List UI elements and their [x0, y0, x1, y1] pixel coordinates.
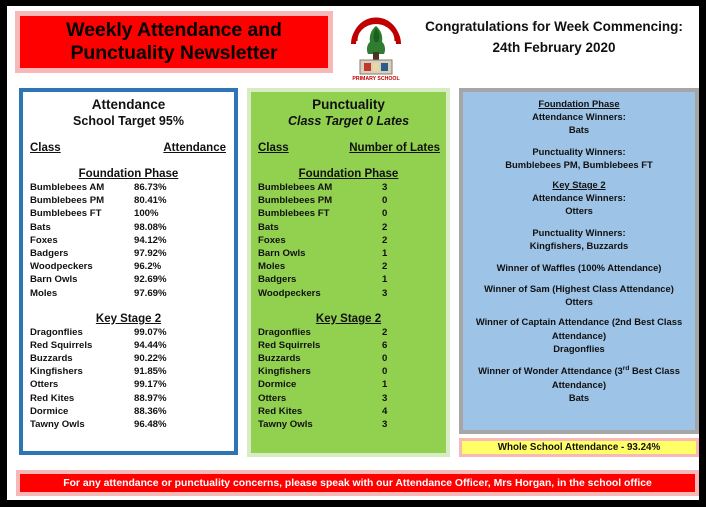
newsletter-title-banner: Weekly Attendance and Punctuality Newsle… [15, 11, 333, 73]
table-row: Dragonflies99.07% [30, 326, 226, 339]
award-sam-value: Otters [471, 295, 687, 308]
attendance-group-title-ks2: Key Stage 2 [23, 313, 234, 325]
class-value: 94.12% [134, 234, 194, 247]
footer-text: For any attendance or punctuality concer… [63, 478, 652, 489]
award-captain-label-line2: Attendance) [471, 329, 687, 343]
footer-banner: For any attendance or punctuality concer… [16, 470, 699, 496]
spacer [471, 275, 687, 282]
attendance-panel-heading: Attendance School Target 95% [23, 92, 234, 130]
table-row: Kingfishers91.85% [30, 365, 226, 378]
class-name: Kingfishers [258, 365, 354, 378]
attendance-col-value: Attendance [163, 142, 226, 154]
winners-fp-attendance-label: Attendance Winners: [471, 110, 687, 123]
class-name: Red Kites [30, 392, 134, 405]
punctuality-group-title-fp: Foundation Phase [251, 168, 446, 180]
class-name: Buzzards [258, 352, 354, 365]
class-value: 0 [354, 365, 428, 378]
attendance-panel: Attendance School Target 95% Class Atten… [19, 88, 238, 455]
class-value: 88.97% [134, 392, 194, 405]
punctuality-title: Punctuality [251, 96, 446, 113]
whole-school-attendance-banner: Whole School Attendance - 93.24% [459, 438, 699, 457]
class-name: Tawny Owls [30, 418, 134, 431]
title-line-2: Punctuality Newsletter [71, 42, 278, 65]
punctuality-col-value: Number of Lates [349, 142, 440, 154]
table-row: Otters99.17% [30, 378, 226, 391]
punctuality-panel-heading: Punctuality Class Target 0 Lates [251, 92, 446, 130]
whole-school-attendance-text: Whole School Attendance - 93.24% [498, 442, 660, 453]
class-name: Dragonflies [30, 326, 134, 339]
class-name: Badgers [258, 273, 354, 286]
spacer [471, 355, 687, 362]
award-wonder-value: Bats [471, 391, 687, 404]
congratulations-heading: Congratulations for Week Commencing: 24t… [411, 16, 697, 58]
class-name: Moles [30, 287, 134, 300]
table-row: Dragonflies2 [258, 326, 438, 339]
table-row: Tawny Owls96.48% [30, 418, 226, 431]
class-name: Otters [258, 392, 354, 405]
winners-ks2-punctuality-value: Kingfishers, Buzzards [471, 239, 687, 252]
punctuality-column-headers: Class Number of Lates [251, 142, 446, 154]
class-value: 1 [354, 273, 428, 286]
class-name: Foxes [258, 234, 354, 247]
table-row: Woodpeckers96.2% [30, 260, 226, 273]
class-value: 2 [354, 234, 428, 247]
table-row: Bumblebees PM0 [258, 194, 438, 207]
punctuality-rows-fp: Bumblebees AM3 Bumblebees PM0 Bumblebees… [251, 181, 446, 300]
award-wonder-label-line2: Attendance) [471, 378, 687, 392]
class-value: 92.69% [134, 273, 194, 286]
class-value: 88.36% [134, 405, 194, 418]
award-wonder-label-line1: Winner of Wonder Attendance (3rd Best Cl… [471, 362, 687, 378]
congrats-line-2: 24th February 2020 [411, 37, 697, 58]
table-row: Bumblebees PM80.41% [30, 194, 226, 207]
table-row: Badgers1 [258, 273, 438, 286]
award-waffles-label: Winner of Waffles (100% Attendance) [471, 261, 687, 275]
class-name: Red Squirrels [30, 339, 134, 352]
award-sam-label: Winner of Sam (Highest Class Attendance) [471, 282, 687, 296]
table-row: Bats98.08% [30, 221, 226, 234]
class-name: Kingfishers [30, 365, 134, 378]
winners-ks2-punctuality-label: Punctuality Winners: [471, 226, 687, 239]
table-row: Foxes2 [258, 234, 438, 247]
class-value: 1 [354, 378, 428, 391]
spacer [471, 308, 687, 315]
svg-text:PRIMARY SCHOOL: PRIMARY SCHOOL [352, 76, 400, 82]
class-value: 0 [354, 207, 428, 220]
newsletter-page: Weekly Attendance and Punctuality Newsle… [0, 0, 706, 507]
class-value: 94.44% [134, 339, 194, 352]
class-name: Red Kites [258, 405, 354, 418]
spacer [471, 252, 687, 261]
class-value: 99.17% [134, 378, 194, 391]
class-value: 97.92% [134, 247, 194, 260]
winners-panel: Foundation Phase Attendance Winners: Bat… [459, 88, 699, 434]
school-crest-logo: PRIMARY SCHOOL [345, 14, 407, 84]
class-value: 3 [354, 418, 428, 431]
class-name: Moles [258, 260, 354, 273]
table-row: Bumblebees AM3 [258, 181, 438, 194]
class-value: 3 [354, 181, 428, 194]
class-value: 1 [354, 247, 428, 260]
class-name: Tawny Owls [258, 418, 354, 431]
spacer [471, 171, 687, 178]
class-name: Otters [30, 378, 134, 391]
class-name: Buzzards [30, 352, 134, 365]
class-name: Badgers [30, 247, 134, 260]
award-wonder-pre: Winner of Wonder Attendance (3 [478, 365, 623, 376]
attendance-group-title-fp: Foundation Phase [23, 168, 234, 180]
table-row: Bumblebees AM86.73% [30, 181, 226, 194]
header: Weekly Attendance and Punctuality Newsle… [7, 6, 699, 86]
winners-fp-punctuality-value: Bumblebees PM, Bumblebees FT [471, 158, 687, 171]
table-row: Red Kites88.97% [30, 392, 226, 405]
class-value: 2 [354, 260, 428, 273]
spacer [471, 217, 687, 226]
punctuality-col-class: Class [258, 142, 289, 154]
class-name: Woodpeckers [30, 260, 134, 273]
table-row: Dormice1 [258, 378, 438, 391]
punctuality-rows-ks2: Dragonflies2 Red Squirrels6 Buzzards0 Ki… [251, 326, 446, 432]
punctuality-subtitle: Class Target 0 Lates [251, 113, 446, 130]
class-name: Bumblebees FT [30, 207, 134, 220]
table-row: Bumblebees FT100% [30, 207, 226, 220]
attendance-subtitle: School Target 95% [23, 113, 234, 130]
congrats-line-1: Congratulations for Week Commencing: [411, 16, 697, 37]
class-value: 3 [354, 392, 428, 405]
attendance-column-headers: Class Attendance [23, 142, 234, 154]
winners-ks2-attendance-value: Otters [471, 204, 687, 217]
class-value: 96.48% [134, 418, 194, 431]
class-name: Barn Owls [30, 273, 134, 286]
class-name: Bumblebees AM [258, 181, 354, 194]
class-value: 90.22% [134, 352, 194, 365]
award-captain-value: Dragonflies [471, 342, 687, 355]
class-name: Bats [258, 221, 354, 234]
attendance-col-class: Class [30, 142, 61, 154]
class-name: Foxes [30, 234, 134, 247]
table-row: Red Squirrels6 [258, 339, 438, 352]
table-row: Barn Owls1 [258, 247, 438, 260]
winners-ks2-attendance-label: Attendance Winners: [471, 191, 687, 204]
winners-fp-title: Foundation Phase [471, 97, 687, 110]
class-name: Bumblebees FT [258, 207, 354, 220]
attendance-rows-fp: Bumblebees AM86.73% Bumblebees PM80.41% … [23, 181, 234, 300]
class-value: 98.08% [134, 221, 194, 234]
table-row: Red Kites4 [258, 405, 438, 418]
winners-fp-attendance-value: Bats [471, 123, 687, 136]
table-row: Woodpeckers3 [258, 287, 438, 300]
table-row: Barn Owls92.69% [30, 273, 226, 286]
attendance-rows-ks2: Dragonflies99.07% Red Squirrels94.44% Bu… [23, 326, 234, 432]
class-name: Bumblebees AM [30, 181, 134, 194]
class-value: 6 [354, 339, 428, 352]
table-row: Moles97.69% [30, 287, 226, 300]
class-name: Dormice [258, 378, 354, 391]
table-row: Buzzards0 [258, 352, 438, 365]
spacer [471, 136, 687, 145]
class-value: 2 [354, 326, 428, 339]
class-name: Red Squirrels [258, 339, 354, 352]
class-value: 3 [354, 287, 428, 300]
winners-ks2-title: Key Stage 2 [471, 178, 687, 191]
table-row: Dormice88.36% [30, 405, 226, 418]
class-name: Bumblebees PM [30, 194, 134, 207]
class-value: 100% [134, 207, 194, 220]
class-name: Barn Owls [258, 247, 354, 260]
table-row: Foxes94.12% [30, 234, 226, 247]
class-name: Woodpeckers [258, 287, 354, 300]
award-wonder-post: Best Class [629, 365, 680, 376]
class-name: Bumblebees PM [258, 194, 354, 207]
award-captain-label-line1: Winner of Captain Attendance (2nd Best C… [471, 315, 687, 329]
table-row: Moles2 [258, 260, 438, 273]
class-value: 99.07% [134, 326, 194, 339]
class-value: 2 [354, 221, 428, 234]
table-row: Bats2 [258, 221, 438, 234]
table-row: Kingfishers0 [258, 365, 438, 378]
attendance-title: Attendance [23, 96, 234, 113]
table-row: Tawny Owls3 [258, 418, 438, 431]
class-value: 96.2% [134, 260, 194, 273]
winners-body: Foundation Phase Attendance Winners: Bat… [463, 92, 695, 404]
class-value: 0 [354, 352, 428, 365]
title-line-1: Weekly Attendance and [66, 19, 282, 42]
punctuality-group-title-ks2: Key Stage 2 [251, 313, 446, 325]
table-row: Buzzards90.22% [30, 352, 226, 365]
class-name: Dragonflies [258, 326, 354, 339]
class-value: 80.41% [134, 194, 194, 207]
class-name: Bats [30, 221, 134, 234]
table-row: Badgers97.92% [30, 247, 226, 260]
class-value: 0 [354, 194, 428, 207]
table-row: Otters3 [258, 392, 438, 405]
winners-fp-punctuality-label: Punctuality Winners: [471, 145, 687, 158]
class-name: Dormice [30, 405, 134, 418]
class-value: 91.85% [134, 365, 194, 378]
punctuality-panel: Punctuality Class Target 0 Lates Class N… [247, 88, 450, 457]
class-value: 97.69% [134, 287, 194, 300]
class-value: 4 [354, 405, 428, 418]
class-value: 86.73% [134, 181, 194, 194]
table-row: Red Squirrels94.44% [30, 339, 226, 352]
table-row: Bumblebees FT0 [258, 207, 438, 220]
